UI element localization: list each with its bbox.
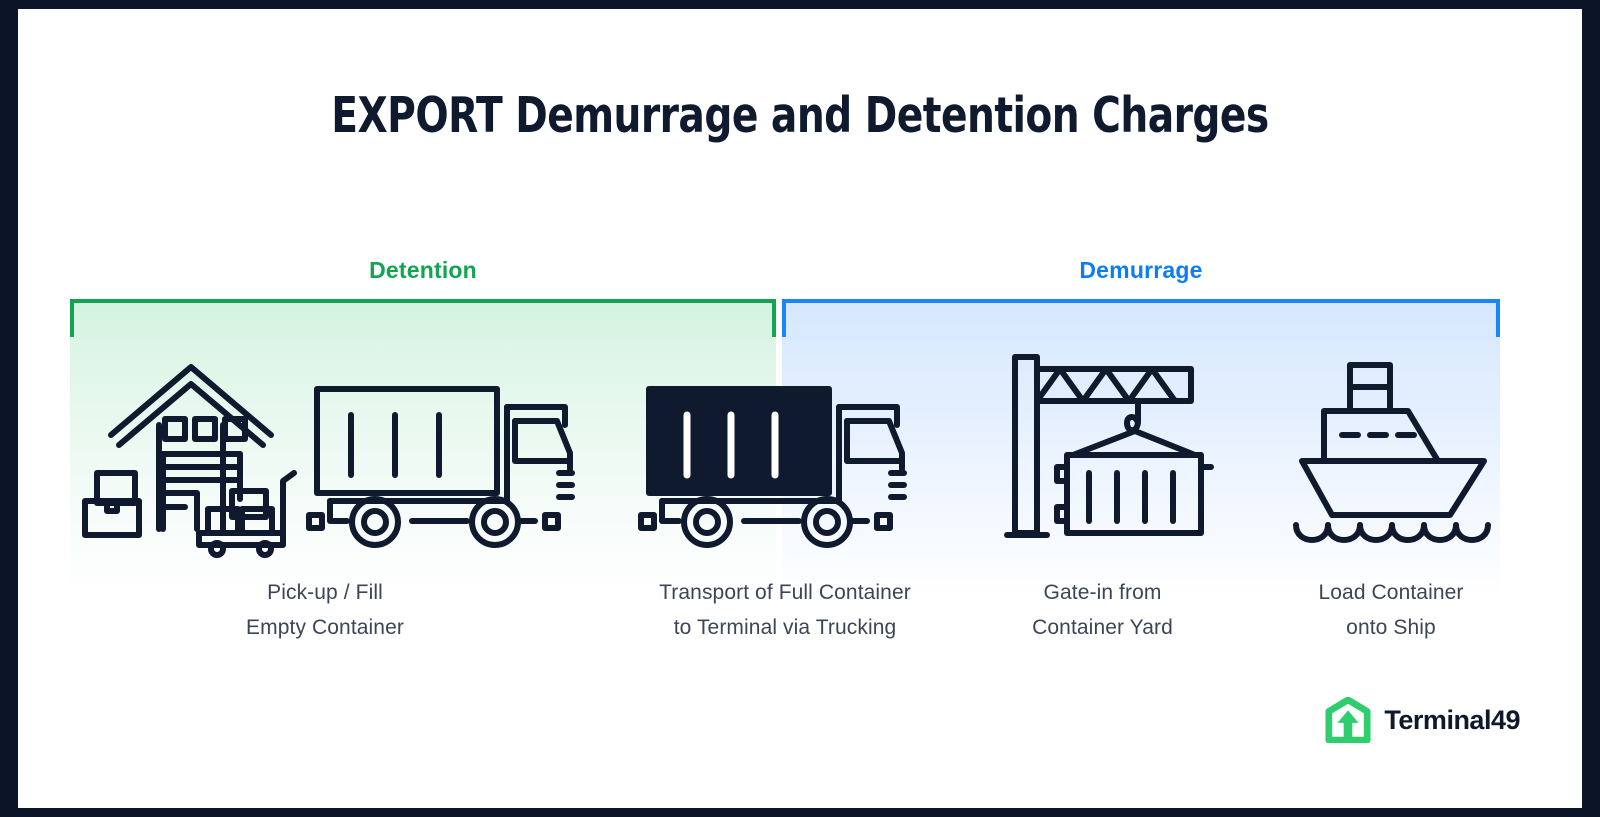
- process-step-1: Pick-up / Fill Empty Container: [70, 349, 580, 646]
- demurrage-top-rule: [782, 299, 1500, 303]
- container-ship-icon: [1288, 349, 1494, 549]
- process-steps: Pick-up / Fill Empty Container: [70, 349, 1500, 669]
- step-3-caption-line-1: Gate-in from: [995, 575, 1210, 610]
- step-2-caption: Transport of Full Container to Terminal …: [615, 575, 955, 646]
- infographic-canvas: EXPORT Demurrage and Detention Charges D…: [18, 9, 1582, 808]
- step-4-artwork: [1280, 349, 1502, 549]
- step-1-caption-line-1: Pick-up / Fill: [70, 575, 580, 610]
- step-4-caption-line-1: Load Container: [1280, 575, 1502, 610]
- brand-wordmark: Terminal49: [1384, 705, 1520, 736]
- step-1-caption-line-2: Empty Container: [70, 610, 580, 645]
- step-1-artwork: [70, 349, 580, 549]
- truck-with-full-container-icon: [635, 349, 935, 549]
- detention-top-rule: [70, 299, 776, 303]
- demurrage-left-tick: [782, 299, 786, 337]
- warehouse-and-loaded-truck-icon: [75, 349, 575, 549]
- process-step-4: Load Container onto Ship: [1280, 349, 1502, 646]
- terminal49-hexagon-arrow-logo: [1325, 697, 1371, 743]
- brand-logo: Terminal49: [1325, 697, 1520, 743]
- step-2-caption-line-2: to Terminal via Trucking: [615, 610, 955, 645]
- demurrage-right-tick: [1496, 299, 1500, 337]
- infographic-root: EXPORT Demurrage and Detention Charges D…: [0, 0, 1600, 817]
- gantry-crane-container-icon: [1005, 349, 1201, 549]
- step-3-caption: Gate-in from Container Yard: [995, 575, 1210, 646]
- process-step-3: Gate-in from Container Yard: [995, 349, 1210, 646]
- step-3-caption-line-2: Container Yard: [995, 610, 1210, 645]
- step-2-caption-line-1: Transport of Full Container: [615, 575, 955, 610]
- detention-left-tick: [70, 299, 74, 337]
- detention-right-tick: [772, 299, 776, 337]
- category-label-detention: Detention: [70, 257, 776, 284]
- category-label-demurrage: Demurrage: [782, 257, 1500, 284]
- process-step-2: Transport of Full Container to Terminal …: [615, 349, 955, 646]
- step-2-artwork: [615, 349, 955, 549]
- step-3-artwork: [995, 349, 1210, 549]
- step-1-caption: Pick-up / Fill Empty Container: [70, 575, 580, 646]
- step-4-caption-line-2: onto Ship: [1280, 610, 1502, 645]
- page-title: EXPORT Demurrage and Detention Charges: [174, 87, 1425, 144]
- step-4-caption: Load Container onto Ship: [1280, 575, 1502, 646]
